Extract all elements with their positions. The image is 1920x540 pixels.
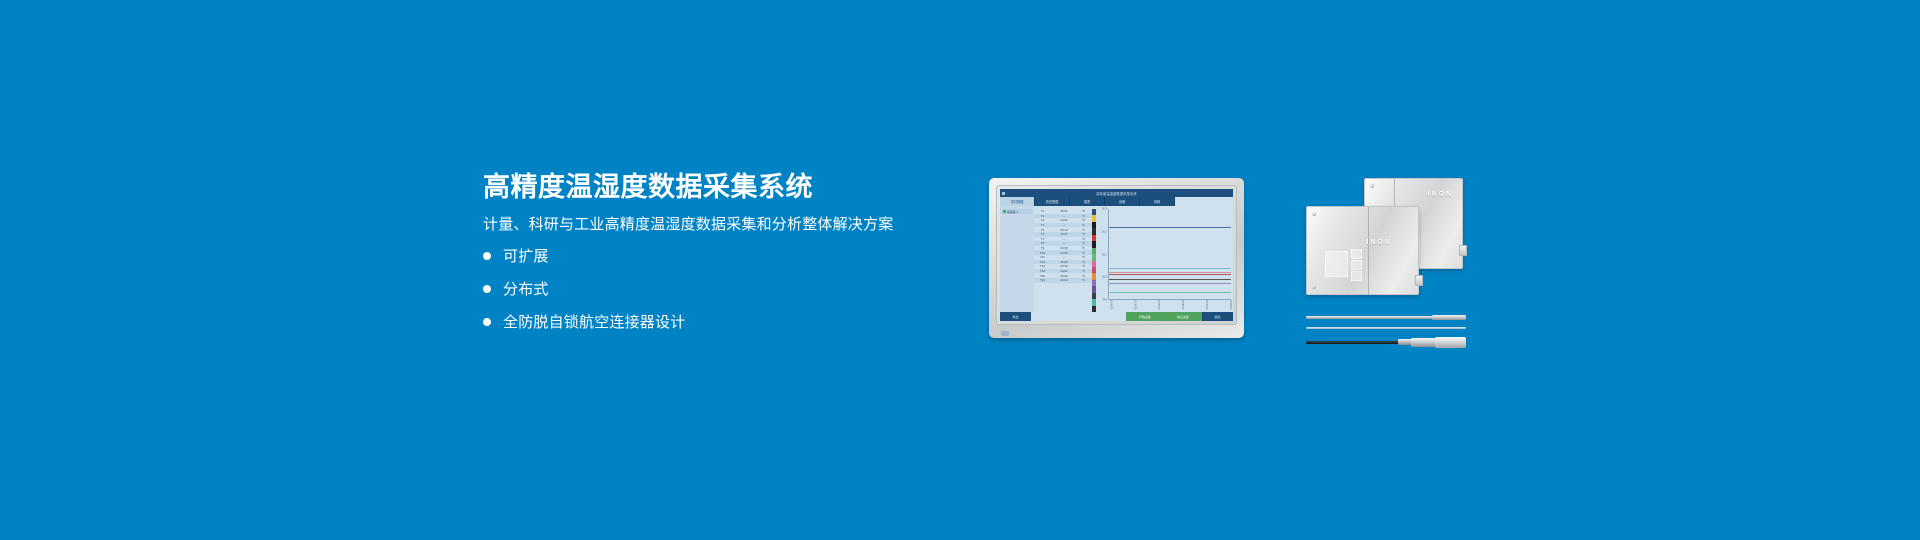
export-button[interactable]: 导出 [1000,312,1031,321]
y-axis-tick-label: 25.0 [1102,276,1108,279]
table-cell: ℃ [1077,223,1090,227]
table-cell: — [1051,241,1077,245]
stop-acquisition-button[interactable]: 停止采集 [1164,312,1202,321]
table-cell: T16 [1034,278,1051,282]
bullet-dot-icon [483,252,491,260]
thin-sensor-cable [1306,327,1466,329]
page-title: 高精度温湿度数据采集系统 [483,173,953,203]
table-row[interactable]: T1225.02℃ [1034,260,1092,265]
table-cell: T12 [1034,260,1051,264]
bullet-dot-icon [483,318,491,326]
table-cell: T1 [1034,209,1051,213]
chart-series-line [1109,292,1231,293]
connector-barrel [1411,338,1437,347]
app-footer-toolbar: 导出 开始采集 停止采集 退出 [1000,312,1233,321]
screw-icon [1312,285,1316,289]
brand-logo: INON [1428,191,1454,198]
table-cell: T11 [1034,255,1051,259]
device-label: 采集器-1 [1007,210,1018,214]
x-axis-tick-label: 10:30:00 [1181,300,1183,311]
table-row[interactable]: T125.01℃ [1034,209,1092,214]
table-cell: ℃ [1077,255,1090,259]
table-cell: ℃ [1077,274,1090,278]
chart-plot-area [1109,209,1231,300]
table-cell: T5 [1034,228,1051,232]
connector-head [1435,337,1466,348]
list-item: 全防脱自锁航空连接器设计 [483,315,953,330]
monitor-inner-frame: 高精度温湿度数据采集系统 实时数据 历史数据 报表 设置 帮助 [996,185,1237,325]
table-cell: ℃ [1077,269,1090,273]
monitor-stand-foot [1001,331,1009,336]
footer-spacer [1031,312,1126,321]
table-cell: ℃ [1077,232,1090,236]
app-logo-icon [1002,192,1005,195]
table-row[interactable]: T924.98℃ [1034,246,1092,251]
table-cell: — [1051,223,1077,227]
start-acquisition-button[interactable]: 开始采集 [1126,312,1164,321]
tab-settings[interactable]: 设置 [1105,197,1140,206]
exit-button[interactable]: 退出 [1202,312,1233,321]
port-graphic [1351,271,1362,281]
table-cell: T6 [1034,232,1051,236]
table-cell: T9 [1034,246,1051,250]
table-cell: 24.96 [1051,251,1077,255]
terminal-block-graphic [1325,251,1348,277]
table-cell: ℃ [1077,241,1090,245]
chart-series-line [1109,274,1231,275]
table-cell: 24.99 [1051,218,1077,222]
tab-report[interactable]: 报表 [1070,197,1105,206]
chart-series-line [1109,227,1231,228]
table-cell: 25.01 [1051,209,1077,213]
channel-table: T125.01℃T2—℃T324.99℃T4—℃T525.12℃T625.07℃… [1034,206,1092,312]
tab-bar-filler [1175,197,1233,206]
tab-help[interactable]: 帮助 [1140,197,1175,206]
banner-text-block: 高精度温湿度数据采集系统 计量、科研与工业高精度温湿度数据采集和分析整体解决方案… [483,173,953,348]
table-cell: 25.20 [1051,264,1077,268]
feature-list: 可扩展 分布式 全防脱自锁航空连接器设计 [483,249,953,330]
tab-realtime-data[interactable]: 实时数据 [1000,197,1035,206]
y-axis-tick-label: 25.1 [1102,253,1108,256]
connector-port [1459,245,1467,256]
app-titlebar: 高精度温湿度数据采集系统 [1000,189,1233,197]
table-row[interactable]: T11—℃ [1034,255,1092,260]
table-row[interactable]: T7—℃ [1034,237,1092,242]
table-cell: 25.02 [1051,260,1077,264]
table-cell: 24.94 [1051,278,1077,282]
list-item: 分布式 [483,282,953,297]
port-graphic [1351,249,1362,259]
table-cell: T10 [1034,251,1051,255]
table-cell: 24.98 [1051,246,1077,250]
table-row[interactable]: T1524.90℃ [1034,273,1092,278]
tab-history-data[interactable]: 历史数据 [1035,197,1070,206]
table-row[interactable]: T1624.94℃ [1034,278,1092,283]
feature-label: 分布式 [503,282,549,297]
table-row[interactable]: T1024.96℃ [1034,250,1092,255]
chart-y-axis: 25.325.225.125.024.9 [1098,209,1109,300]
device-status-icon [1003,210,1006,213]
chart-series-line [1109,283,1231,284]
table-row[interactable]: T625.07℃ [1034,232,1092,237]
table-cell: T13 [1034,264,1051,268]
port-graphic [1351,260,1362,270]
aviation-connector-probe [1306,337,1466,348]
table-cell: T3 [1034,218,1051,222]
y-axis-tick-label: 25.2 [1102,230,1108,233]
trend-chart: 25.325.225.125.024.9 10:00:0010:10:0010:… [1096,206,1233,312]
table-cell: T15 [1034,274,1051,278]
x-axis-tick-label: 10:40:00 [1205,300,1207,311]
chart-series-line [1109,272,1231,273]
screw-icon [1370,184,1374,188]
table-row[interactable]: T324.99℃ [1034,218,1092,223]
table-row[interactable]: T1424.91℃ [1034,269,1092,274]
table-cell: ℃ [1077,251,1090,255]
table-cell: T7 [1034,237,1051,241]
probe-tip [1432,315,1466,320]
table-cell: T4 [1034,223,1051,227]
table-cell: T14 [1034,269,1051,273]
app-title: 高精度温湿度数据采集系统 [1096,191,1137,196]
cable-ferrule [1398,339,1412,345]
x-axis-tick-label: 10:00:00 [1109,300,1111,311]
connector-port [1415,275,1423,286]
table-cell: — [1051,255,1077,259]
table-cell: T8 [1034,241,1051,245]
table-cell: ℃ [1077,214,1090,218]
y-axis-tick-label: 25.3 [1102,208,1108,211]
table-row[interactable]: T1325.20℃ [1034,264,1092,269]
brand-logo: INON [1367,239,1393,246]
chart-x-axis: 10:00:0010:10:0010:20:0010:30:0010:40:00… [1109,300,1231,311]
table-cell: ℃ [1077,228,1090,232]
monitor-product-image: 高精度温湿度数据采集系统 实时数据 历史数据 报表 设置 帮助 [989,178,1244,338]
probe-shaft [1306,316,1434,318]
table-cell: 24.90 [1051,274,1077,278]
probe-product-image [1306,315,1466,349]
table-cell: ℃ [1077,209,1090,213]
app-tab-bar: 实时数据 历史数据 报表 设置 帮助 [1000,197,1233,206]
table-cell: ℃ [1077,264,1090,268]
table-cell: ℃ [1077,218,1090,222]
chart-series-line [1109,268,1231,269]
table-row[interactable]: T525.12℃ [1034,227,1092,232]
table-cell: — [1051,237,1077,241]
enclosure-box-front: INON [1306,206,1419,295]
table-cell: ℃ [1077,246,1090,250]
table-cell: T2 [1034,214,1051,218]
bullet-dot-icon [483,285,491,293]
y-axis-tick-label: 24.9 [1102,299,1108,302]
list-item: 可扩展 [483,249,953,264]
app-body: 采集器-1 T125.01℃T2—℃T324.99℃T4—℃T525.12℃T6… [1000,206,1233,312]
table-row[interactable]: T4—℃ [1034,223,1092,228]
feature-label: 可扩展 [503,249,549,264]
screw-icon [1312,212,1316,216]
x-axis-tick-label: 10:50:00 [1229,300,1231,311]
table-cell: ℃ [1077,278,1090,282]
feature-label: 全防脱自锁航空连接器设计 [503,315,685,330]
table-cell: 25.12 [1051,228,1077,232]
table-cell: — [1051,214,1077,218]
lid-seam [1368,207,1369,294]
product-banner: 高精度温湿度数据采集系统 计量、科研与工业高精度温湿度数据采集和分析整体解决方案… [0,0,1920,540]
page-subtitle: 计量、科研与工业高精度温湿度数据采集和分析整体解决方案 [483,216,953,234]
enclosure-product-image: INON INON [1306,178,1461,293]
device-tree-item[interactable]: 采集器-1 [1002,209,1032,214]
table-row[interactable]: T2—℃ [1034,214,1092,219]
device-side-panel: 采集器-1 [1000,206,1034,312]
table-cell: ℃ [1077,260,1090,264]
cable-jacket [1306,341,1400,344]
chart-series-line [1109,279,1231,280]
x-axis-tick-label: 10:20:00 [1157,300,1159,311]
x-axis-tick-label: 10:10:00 [1133,300,1135,311]
table-cell: 25.07 [1051,232,1077,236]
software-screen: 高精度温湿度数据采集系统 实时数据 历史数据 报表 设置 帮助 [1000,189,1233,321]
monitor-bezel: 高精度温湿度数据采集系统 实时数据 历史数据 报表 设置 帮助 [989,178,1244,338]
table-cell: ℃ [1077,237,1090,241]
table-row[interactable]: T8—℃ [1034,241,1092,246]
stainless-temperature-probe [1306,315,1466,320]
table-cell: 24.91 [1051,269,1077,273]
